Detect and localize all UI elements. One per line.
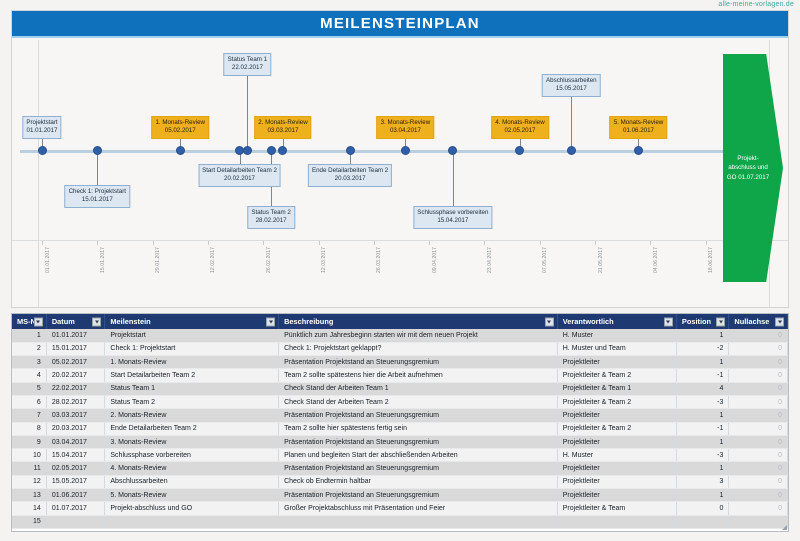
table-cell-nullachse[interactable]: 0: [729, 342, 788, 355]
table-cell-position[interactable]: 1: [676, 329, 729, 342]
axis-tick: [42, 241, 43, 245]
axis-tick: [650, 241, 651, 245]
table-cell-nullachse[interactable]: 0: [729, 475, 788, 488]
table-row[interactable]: 15: [12, 515, 788, 528]
closing-line-4: 01.07.2017: [738, 174, 769, 181]
table-row[interactable]: 305.02.20171. Monats-ReviewPräsentation …: [12, 356, 788, 369]
filter-dropdown-icon[interactable]: [34, 317, 43, 326]
table-cell-verantwortlich[interactable]: Projektleiter: [557, 489, 676, 502]
table-cell-position[interactable]: 1: [676, 409, 729, 422]
table-cell-verantwortlich[interactable]: H. Muster: [557, 449, 676, 462]
watermark: alle-meine-vorlagen.de: [718, 1, 794, 8]
table-cell-beschreibung[interactable]: Präsentation Projektstand an Steuerungsg…: [279, 435, 558, 448]
axis-tick-label: 15.01.2017: [100, 247, 106, 273]
table-cell-datum[interactable]: 28.02.2017: [46, 395, 105, 408]
table-row[interactable]: 1301.06.20175. Monats-ReviewPräsentation…: [12, 489, 788, 502]
table-header-label: Verantwortlich: [563, 317, 614, 326]
axis-tick: [153, 241, 154, 245]
table-cell-beschreibung[interactable]: Check Stand der Arbeiten Team 2: [279, 395, 558, 408]
table-cell-position[interactable]: 1: [676, 462, 729, 475]
table-cell-meilenstein[interactable]: Abschlussarbeiten: [105, 475, 279, 488]
table-cell-ms_nr[interactable]: 8: [12, 422, 46, 435]
table-cell-datum[interactable]: 15.05.2017: [46, 475, 105, 488]
table-cell-ms_nr[interactable]: 1: [12, 329, 46, 342]
project-closing-label: Projekt- abschluss und GO 01.07.2017: [726, 154, 770, 183]
table-header-label: Position: [682, 317, 711, 326]
table-cell-meilenstein[interactable]: 5. Monats-Review: [105, 489, 279, 502]
axis-tick: [319, 241, 320, 245]
table-row[interactable]: 903.04.20173. Monats-ReviewPräsentation …: [12, 435, 788, 448]
table-cell-nullachse[interactable]: 0: [729, 449, 788, 462]
milestone-label-date: 05.02.2017: [155, 127, 205, 135]
timeline-axis-ticks: 01.01.201715.01.201729.01.201712.02.2017…: [12, 240, 788, 302]
milestone-marker[interactable]: [346, 146, 355, 155]
table-cell-verantwortlich[interactable]: Projektleiter & Team: [557, 502, 676, 515]
table-cell-position[interactable]: -1: [676, 422, 729, 435]
milestone-marker[interactable]: [634, 146, 643, 155]
axis-tick-label: 29.01.2017: [155, 247, 161, 273]
axis-tick-label: 01.01.2017: [45, 247, 51, 273]
table-cell-meilenstein[interactable]: 2. Monats-Review: [105, 409, 279, 422]
milestone-marker[interactable]: [448, 146, 457, 155]
milestone-label[interactable]: Ende Detailarbeiten Team 220.03.2017: [308, 164, 392, 187]
milestone-label-title: Check 1: Projektstart: [69, 188, 126, 196]
table-cell-ms_nr[interactable]: 6: [12, 395, 46, 408]
table-cell-datum[interactable]: 05.02.2017: [46, 356, 105, 369]
milestone-label[interactable]: Start Detailarbeiten Team 220.02.2017: [198, 164, 281, 187]
table-cell-meilenstein[interactable]: 1. Monats-Review: [105, 356, 279, 369]
milestone-label-date: 03.04.2017: [381, 127, 431, 135]
milestone-marker[interactable]: [567, 146, 576, 155]
table-cell-position[interactable]: -1: [676, 369, 729, 382]
table-cell-meilenstein[interactable]: Projektstart: [105, 329, 279, 342]
table-cell-nullachse[interactable]: 0: [729, 435, 788, 448]
table-cell-position[interactable]: 3: [676, 475, 729, 488]
table-header-label: Meilenstein: [110, 317, 150, 326]
table-cell-verantwortlich[interactable]: Projektleiter & Team 1: [557, 382, 676, 395]
table-cell-beschreibung[interactable]: Präsentation Projektstand an Steuerungsg…: [279, 462, 558, 475]
table-cell-nullachse[interactable]: 0: [729, 489, 788, 502]
milestone-leader-line: [571, 94, 572, 152]
table-header-nullachse[interactable]: Nullachse: [729, 314, 788, 329]
table-row[interactable]: 215.01.2017Check 1: ProjektstartCheck 1:…: [12, 342, 788, 355]
milestone-leader-line: [247, 73, 248, 152]
axis-tick: [595, 241, 596, 245]
table-cell-beschreibung[interactable]: Großer Projektabschluss mit Präsentation…: [279, 502, 558, 515]
axis-tick: [540, 241, 541, 245]
milestone-label-date: 01.06.2017: [614, 127, 664, 135]
milestone-table-card: MS-Nr.DatumMeilensteinBeschreibungVerant…: [11, 313, 789, 532]
milestone-label[interactable]: 3. Monats-Review03.04.2017: [377, 116, 435, 139]
milestone-leader-line: [453, 152, 454, 206]
table-cell-ms_nr[interactable]: 14: [12, 502, 46, 515]
table-header-datum[interactable]: Datum: [46, 314, 105, 329]
table-cell-nullachse[interactable]: 0: [729, 502, 788, 515]
table-row[interactable]: 101.01.2017ProjektstartPünktlich zum Jah…: [12, 329, 788, 342]
milestone-label-title: Status Team 1: [228, 56, 267, 64]
table-cell-datum[interactable]: 15.01.2017: [46, 342, 105, 355]
milestone-marker[interactable]: [38, 146, 47, 155]
table-cell-meilenstein[interactable]: Status Team 1: [105, 382, 279, 395]
table-cell-ms_nr[interactable]: 11: [12, 462, 46, 475]
closing-line-1: Projekt-: [737, 155, 758, 162]
table-cell-ms_nr[interactable]: 12: [12, 475, 46, 488]
table-cell-meilenstein[interactable]: Status Team 2: [105, 395, 279, 408]
table-cell-nullachse[interactable]: 0: [729, 409, 788, 422]
milestone-table: MS-Nr.DatumMeilensteinBeschreibungVerant…: [12, 314, 788, 529]
table-cell-datum[interactable]: 20.03.2017: [46, 422, 105, 435]
table-cell-position[interactable]: -3: [676, 395, 729, 408]
table-row[interactable]: 1102.05.20174. Monats-ReviewPräsentation…: [12, 462, 788, 475]
table-cell-nullachse[interactable]: [729, 515, 788, 528]
axis-tick: [263, 241, 264, 245]
milestone-label-title: 4. Monats-Review: [495, 119, 545, 127]
milestone-label[interactable]: 2. Monats-Review03.03.2017: [254, 116, 312, 139]
table-cell-ms_nr[interactable]: 13: [12, 489, 46, 502]
table-cell-verantwortlich[interactable]: Projektleiter: [557, 409, 676, 422]
filter-dropdown-icon[interactable]: [664, 317, 673, 326]
table-cell-beschreibung[interactable]: Präsentation Projektstand an Steuerungsg…: [279, 489, 558, 502]
table-header-row: MS-Nr.DatumMeilensteinBeschreibungVerant…: [12, 314, 788, 329]
filter-dropdown-icon[interactable]: [545, 317, 554, 326]
milestone-label[interactable]: Schlussphase vorbereiten15.04.2017: [413, 206, 492, 229]
table-row[interactable]: 820.03.2017Ende Detailarbeiten Team 2Tea…: [12, 422, 788, 435]
table-row[interactable]: 1015.04.2017Schlussphase vorbereitenPlan…: [12, 449, 788, 462]
milestone-label[interactable]: 5. Monats-Review01.06.2017: [610, 116, 668, 139]
axis-tick-label: 18.06.2017: [708, 247, 714, 273]
milestone-label[interactable]: Projektstart01.01.2017: [22, 116, 61, 139]
milestone-label-date: 20.03.2017: [312, 175, 388, 183]
page-title: MEILENSTEINPLAN: [320, 15, 480, 32]
table-cell-position[interactable]: 1: [676, 356, 729, 369]
table-cell-verantwortlich[interactable]: Projektleiter & Team 2: [557, 395, 676, 408]
table-header-ms_nr[interactable]: MS-Nr.: [12, 314, 46, 329]
table-cell-nullachse[interactable]: 0: [729, 462, 788, 475]
table-cell-position[interactable]: [676, 515, 729, 528]
table-cell-verantwortlich[interactable]: Projektleiter & Team 2: [557, 422, 676, 435]
table-cell-verantwortlich[interactable]: Projektleiter: [557, 356, 676, 369]
table-header-position[interactable]: Position: [676, 314, 729, 329]
milestone-label[interactable]: Status Team 228.02.2017: [247, 206, 294, 229]
table-cell-beschreibung[interactable]: Präsentation Projektstand an Steuerungsg…: [279, 409, 558, 422]
table-row[interactable]: 628.02.2017Status Team 2Check Stand der …: [12, 395, 788, 408]
axis-tick-label: 26.03.2017: [376, 247, 382, 273]
table-cell-meilenstein[interactable]: Check 1: Projektstart: [105, 342, 279, 355]
timeline-plot-area: 01.01.201715.01.201729.01.201712.02.2017…: [12, 40, 788, 307]
table-cell-position[interactable]: 0: [676, 502, 729, 515]
milestone-label-title: 1. Monats-Review: [155, 119, 205, 127]
table-cell-beschreibung[interactable]: Pünktlich zum Jahresbeginn starten wir m…: [279, 329, 558, 342]
milestone-marker[interactable]: [93, 146, 102, 155]
table-header-beschreibung[interactable]: Beschreibung: [279, 314, 558, 329]
table-cell-ms_nr[interactable]: 15: [12, 515, 46, 528]
table-cell-meilenstein[interactable]: Schlussphase vorbereiten: [105, 449, 279, 462]
table-row[interactable]: 1215.05.2017AbschlussarbeitenCheck ob En…: [12, 475, 788, 488]
milestone-label-title: Ende Detailarbeiten Team 2: [312, 167, 388, 175]
table-cell-datum[interactable]: 01.01.2017: [46, 329, 105, 342]
table-cell-datum[interactable]: 20.02.2017: [46, 369, 105, 382]
table-header-label: Nullachse: [734, 317, 769, 326]
table-header-label: Datum: [52, 317, 75, 326]
milestone-label-date: 15.01.2017: [69, 196, 126, 204]
milestone-label-title: Projektstart: [26, 119, 57, 127]
table-cell-ms_nr[interactable]: 9: [12, 435, 46, 448]
milestone-label-date: 15.05.2017: [546, 85, 597, 93]
axis-tick: [97, 241, 98, 245]
table-cell-nullachse[interactable]: 0: [729, 382, 788, 395]
milestone-label-date: 15.04.2017: [417, 217, 488, 225]
table-cell-nullachse[interactable]: 0: [729, 395, 788, 408]
table-cell-meilenstein[interactable]: 4. Monats-Review: [105, 462, 279, 475]
table-cell-nullachse[interactable]: 0: [729, 356, 788, 369]
table-cell-position[interactable]: 1: [676, 435, 729, 448]
axis-tick: [706, 241, 707, 245]
table-cell-position[interactable]: 1: [676, 489, 729, 502]
table-cell-position[interactable]: 4: [676, 382, 729, 395]
table-cell-meilenstein[interactable]: Projekt-abschluss und GO: [105, 502, 279, 515]
table-cell-beschreibung[interactable]: Team 2 sollte hier spätestens fertig sei…: [279, 422, 558, 435]
milestone-label-title: Status Team 2: [251, 209, 290, 217]
milestone-label-date: 02.05.2017: [495, 127, 545, 135]
milestone-plan-page: alle-meine-vorlagen.de MEILENSTEINPLAN 0…: [0, 0, 800, 541]
table-cell-beschreibung[interactable]: Check Stand der Arbeiten Team 1: [279, 382, 558, 395]
table-cell-ms_nr[interactable]: 3: [12, 356, 46, 369]
table-row[interactable]: 420.02.2017Start Detailarbeiten Team 2Te…: [12, 369, 788, 382]
milestone-label-title: Start Detailarbeiten Team 2: [202, 167, 277, 175]
axis-tick-label: 09.04.2017: [432, 247, 438, 273]
table-cell-datum[interactable]: [46, 515, 105, 528]
table-cell-verantwortlich[interactable]: H. Muster und Team: [557, 342, 676, 355]
milestone-marker[interactable]: [243, 146, 252, 155]
axis-tick: [374, 241, 375, 245]
timeline-chart-card: MEILENSTEINPLAN 01.01.201715.01.201729.0…: [11, 10, 789, 308]
table-cell-datum[interactable]: 03.04.2017: [46, 435, 105, 448]
milestone-label[interactable]: 1. Monats-Review05.02.2017: [151, 116, 209, 139]
milestone-label-title: 5. Monats-Review: [614, 119, 664, 127]
table-cell-nullachse[interactable]: 0: [729, 329, 788, 342]
axis-tick-label: 21.05.2017: [598, 247, 604, 273]
milestone-label[interactable]: Check 1: Projektstart15.01.2017: [65, 185, 130, 208]
table-cell-position[interactable]: -2: [676, 342, 729, 355]
filter-dropdown-icon[interactable]: [775, 317, 784, 326]
table-cell-ms_nr[interactable]: 2: [12, 342, 46, 355]
axis-tick-label: 12.02.2017: [210, 247, 216, 273]
milestone-label-date: 20.02.2017: [202, 175, 277, 183]
milestone-label[interactable]: 4. Monats-Review02.05.2017: [491, 116, 549, 139]
milestone-label-date: 01.01.2017: [26, 127, 57, 135]
table-cell-meilenstein[interactable]: Ende Detailarbeiten Team 2: [105, 422, 279, 435]
milestone-marker[interactable]: [401, 146, 410, 155]
axis-tick-label: 07.05.2017: [542, 247, 548, 273]
axis-tick: [484, 241, 485, 245]
milestone-label[interactable]: Abschlussarbeiten15.05.2017: [542, 74, 601, 97]
table-cell-beschreibung[interactable]: Präsentation Projektstand an Steuerungsg…: [279, 356, 558, 369]
milestone-label-title: 3. Monats-Review: [381, 119, 431, 127]
table-cell-meilenstein[interactable]: Start Detailarbeiten Team 2: [105, 369, 279, 382]
axis-tick: [429, 241, 430, 245]
table-cell-verantwortlich[interactable]: Projektleiter: [557, 462, 676, 475]
table-cell-ms_nr[interactable]: 4: [12, 369, 46, 382]
milestone-label-title: 2. Monats-Review: [258, 119, 308, 127]
table-cell-position[interactable]: -3: [676, 449, 729, 462]
timeline-axis-line: [20, 150, 766, 153]
milestone-marker[interactable]: [267, 146, 276, 155]
chart-title-bar: MEILENSTEINPLAN: [12, 11, 788, 38]
table-cell-verantwortlich[interactable]: [557, 515, 676, 528]
table-cell-beschreibung[interactable]: Planen und begleiten Start der abschließ…: [279, 449, 558, 462]
filter-dropdown-icon[interactable]: [716, 317, 725, 326]
milestone-label-title: Abschlussarbeiten: [546, 77, 597, 85]
table-row[interactable]: 522.02.2017Status Team 1Check Stand der …: [12, 382, 788, 395]
axis-tick-label: 26.02.2017: [266, 247, 272, 273]
milestone-marker[interactable]: [176, 146, 185, 155]
table-cell-ms_nr[interactable]: 10: [12, 449, 46, 462]
filter-dropdown-icon[interactable]: [266, 317, 275, 326]
milestone-leader-line: [97, 152, 98, 185]
milestone-label-date: 28.02.2017: [251, 217, 290, 225]
table-cell-nullachse[interactable]: 0: [729, 369, 788, 382]
table-cell-datum[interactable]: 22.02.2017: [46, 382, 105, 395]
milestone-marker[interactable]: [278, 146, 287, 155]
table-cell-datum[interactable]: 01.06.2017: [46, 489, 105, 502]
table-cell-ms_nr[interactable]: 5: [12, 382, 46, 395]
milestone-label[interactable]: Status Team 122.02.2017: [224, 53, 271, 76]
table-cell-nullachse[interactable]: 0: [729, 422, 788, 435]
table-header-label: Beschreibung: [284, 317, 333, 326]
table-cell-datum[interactable]: 03.03.2017: [46, 409, 105, 422]
table-cell-beschreibung[interactable]: Team 2 sollte spätestens hier die Arbeit…: [279, 369, 558, 382]
table-cell-datum[interactable]: 01.07.2017: [46, 502, 105, 515]
axis-tick: [208, 241, 209, 245]
table-cell-beschreibung[interactable]: Check ob Endtermin haltbar: [279, 475, 558, 488]
resize-handle-icon[interactable]: [782, 525, 787, 530]
table-header-meilenstein[interactable]: Meilenstein: [105, 314, 279, 329]
table-row[interactable]: 1401.07.2017Projekt-abschluss und GOGroß…: [12, 502, 788, 515]
table-row[interactable]: 703.03.20172. Monats-ReviewPräsentation …: [12, 409, 788, 422]
milestone-label-title: Schlussphase vorbereiten: [417, 209, 488, 217]
table-cell-ms_nr[interactable]: 7: [12, 409, 46, 422]
table-cell-verantwortlich[interactable]: Projektleiter & Team 2: [557, 369, 676, 382]
table-cell-beschreibung[interactable]: [279, 515, 558, 528]
table-cell-datum[interactable]: 02.05.2017: [46, 462, 105, 475]
milestone-table-body: 101.01.2017ProjektstartPünktlich zum Jah…: [12, 329, 788, 528]
milestone-table-head: MS-Nr.DatumMeilensteinBeschreibungVerant…: [12, 314, 788, 329]
milestone-label-date: 22.02.2017: [228, 64, 267, 72]
milestone-label-date: 03.03.2017: [258, 127, 308, 135]
axis-tick-label: 04.06.2017: [653, 247, 659, 273]
table-cell-beschreibung[interactable]: Check 1: Projektstart geklappt?: [279, 342, 558, 355]
table-cell-meilenstein[interactable]: 3. Monats-Review: [105, 435, 279, 448]
axis-tick-label: 23.04.2017: [487, 247, 493, 273]
closing-line-2: abschluss: [728, 164, 756, 171]
table-cell-meilenstein[interactable]: [105, 515, 279, 528]
table-header-verantwortlich[interactable]: Verantwortlich: [557, 314, 676, 329]
milestone-marker[interactable]: [515, 146, 524, 155]
filter-dropdown-icon[interactable]: [92, 317, 101, 326]
table-cell-verantwortlich[interactable]: H. Muster: [557, 329, 676, 342]
table-cell-verantwortlich[interactable]: Projektleiter: [557, 435, 676, 448]
axis-tick-label: 12.03.2017: [321, 247, 327, 273]
table-cell-datum[interactable]: 15.04.2017: [46, 449, 105, 462]
table-cell-verantwortlich[interactable]: Projektleiter: [557, 475, 676, 488]
